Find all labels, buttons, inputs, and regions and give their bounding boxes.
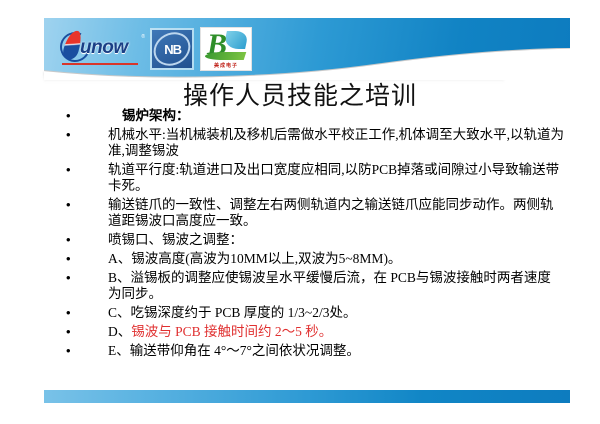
bullet-dot-icon: • — [64, 232, 108, 248]
green-b-logo: B 美成电子 — [200, 27, 252, 71]
footer-accent-bar — [44, 390, 570, 403]
bullet-list: •锡炉架构：•机械水平:当机械装机及移机后需做水平校正工作,机体调至大致水平,以… — [64, 108, 564, 362]
unow-wordmark: unow — [80, 37, 128, 59]
list-item-text: 喷锡口、锡波之调整： — [108, 232, 564, 248]
list-item: •锡炉架构： — [64, 108, 564, 124]
bullet-dot-icon: • — [64, 305, 108, 321]
green-logo-tail-icon — [204, 52, 247, 60]
list-item: •D、锡波与 PCB 接触时间约 2～5 秒。 — [64, 324, 564, 340]
page-title: 操作人员技能之培训 — [0, 83, 600, 111]
list-item-text: 输送链爪的一致性、调整左右两侧轨道内之输送链爪应能同步动作。两侧轨道距锡波口高度… — [108, 197, 564, 229]
list-item-text: C、吃锡深度约于 PCB 厚度的 1/3~2/3处。 — [108, 305, 564, 321]
list-item-text: D、锡波与 PCB 接触时间约 2～5 秒。 — [108, 324, 564, 340]
logo-row: unow ® NB B 美成电子 — [58, 26, 252, 72]
list-item-text: B、溢锡板的调整应使锡波呈水平缓慢后流，在 PCB与锡波接触时两者速度为同步。 — [108, 270, 564, 302]
list-item-text: 机械水平:当机械装机及移机后需做水平校正工作,机体调至大致水平,以轨道为准,调整… — [108, 127, 564, 159]
list-item: •输送链爪的一致性、调整左右两侧轨道内之输送链爪应能同步动作。两侧轨道距锡波口高… — [64, 197, 564, 229]
list-item-text: 轨道平行度:轨道进口及出口宽度应相同,以防PCB掉落或间隙过小导致输送带卡死。 — [108, 162, 564, 194]
unow-underline — [62, 63, 138, 65]
green-logo-caption: 美成电子 — [201, 62, 251, 69]
bullet-dot-icon: • — [64, 270, 108, 286]
bullet-dot-icon: • — [64, 343, 108, 359]
list-item: •喷锡口、锡波之调整： — [64, 232, 564, 248]
list-item-text: E、输送带仰角在 4°～7°之间依状况调整。 — [108, 343, 564, 359]
list-item: •A、锡波高度(高波为10MM以上,双波为5~8MM)。 — [64, 251, 564, 267]
bullet-dot-icon: • — [64, 162, 108, 178]
bullet-dot-icon: • — [64, 108, 108, 124]
bullet-dot-icon: • — [64, 251, 108, 267]
list-item-text: A、锡波高度(高波为10MM以上,双波为5~8MM)。 — [108, 251, 564, 267]
list-item-text: 锡炉架构： — [108, 108, 564, 124]
list-item: •轨道平行度:轨道进口及出口宽度应相同,以防PCB掉落或间隙过小导致输送带卡死。 — [64, 162, 564, 194]
list-item: •机械水平:当机械装机及移机后需做水平校正工作,机体调至大致水平,以轨道为准,调… — [64, 127, 564, 159]
bullet-dot-icon: • — [64, 127, 108, 143]
list-item-prefix: D、 — [108, 324, 131, 339]
list-item: •B、溢锡板的调整应使锡波呈水平缓慢后流，在 PCB与锡波接触时两者速度为同步。 — [64, 270, 564, 302]
list-item-text-highlight: 锡波与 PCB 接触时间约 2～5 秒。 — [131, 324, 332, 339]
list-item: •C、吃锡深度约于 PCB 厚度的 1/3~2/3处。 — [64, 305, 564, 321]
unow-logo: unow ® — [58, 30, 144, 68]
nb-wordmark: NB — [164, 42, 181, 57]
slide-canvas: { "slide": { "title": "操作人员技能之培训", "acce… — [0, 0, 600, 424]
nb-oval-icon: NB — [148, 26, 197, 72]
bullet-dot-icon: • — [64, 197, 108, 213]
bullet-dot-icon: • — [64, 324, 108, 340]
list-item: •E、输送带仰角在 4°～7°之间依状况调整。 — [64, 343, 564, 359]
registered-mark-icon: ® — [141, 34, 145, 40]
nb-logo: NB — [152, 30, 192, 68]
